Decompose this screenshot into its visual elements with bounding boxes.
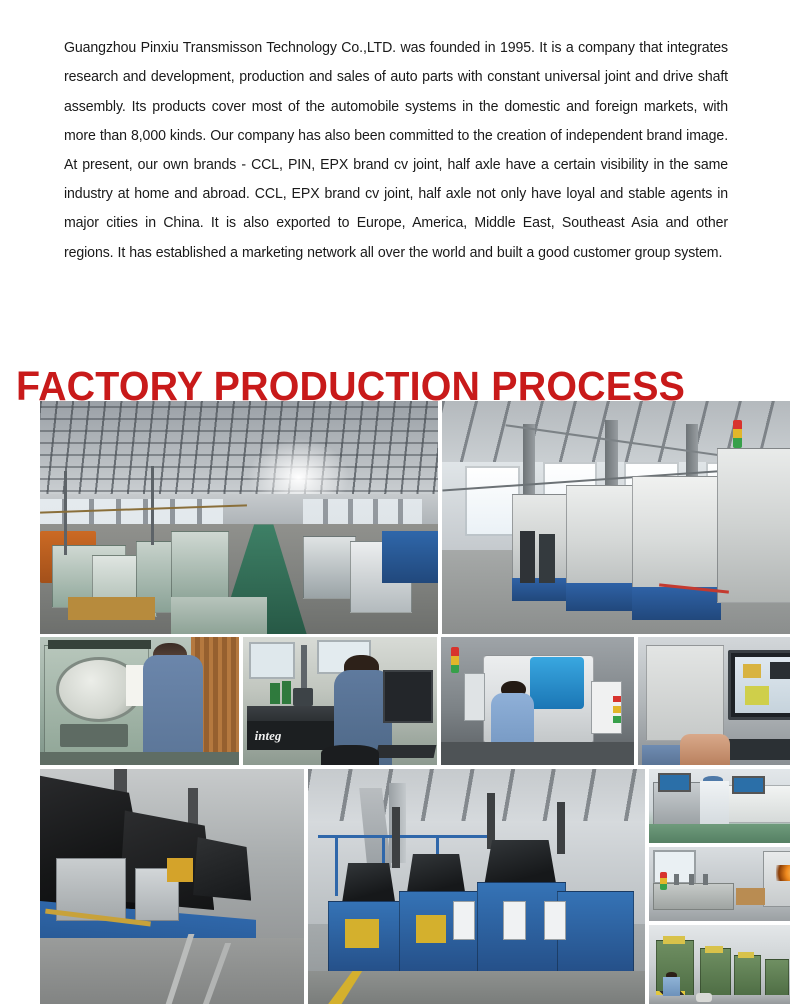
photo-induction-hardening-unit <box>649 847 790 921</box>
wall-box-1 <box>453 901 475 941</box>
machine-top-label <box>48 640 151 649</box>
fixture-2 <box>689 874 694 886</box>
measurement-monitor <box>728 650 790 720</box>
probe-head <box>293 688 312 706</box>
induction-spark-glow <box>776 865 790 881</box>
screen-part-image-3 <box>745 686 769 705</box>
column-1 <box>64 471 67 555</box>
exhaust-stack-3 <box>557 802 565 854</box>
blue-pipe-rack-v1 <box>335 835 338 896</box>
monitor-right <box>732 776 765 793</box>
factory-photo-gallery: integ <box>0 385 790 988</box>
photo-cleanroom-inspection <box>649 769 790 843</box>
machine-right-blue <box>382 531 438 582</box>
fixture-3 <box>703 874 708 886</box>
press-cylinder-2 <box>705 946 723 953</box>
yellow-door-frame-2 <box>416 915 446 943</box>
test-machine-scene <box>40 637 239 765</box>
window-row-right <box>303 499 422 525</box>
screen-part-image-2 <box>770 662 790 679</box>
photo-cnc-lathe-operator <box>441 637 634 765</box>
machine-opening <box>60 724 128 747</box>
monitor-screen <box>735 657 790 713</box>
floor <box>40 752 239 765</box>
yellow-marker <box>167 858 193 882</box>
column-2 <box>151 466 154 545</box>
cnc-machine-line-scene <box>442 401 790 634</box>
cnc-machine-2 <box>566 485 642 590</box>
screen-part-image-1 <box>743 664 761 679</box>
floor <box>441 742 634 765</box>
press-4 <box>765 959 789 996</box>
foreground-machine <box>171 597 267 634</box>
specimen-2 <box>282 681 292 704</box>
worker-body <box>663 977 679 996</box>
company-intro-section: Guangzhou Pinxiu Transmisson Technology … <box>64 18 728 282</box>
worker-body <box>143 655 203 765</box>
cleanroom-scene <box>649 769 790 843</box>
machine-right-1 <box>303 536 357 599</box>
cnc-lathe-scene <box>441 637 634 765</box>
extraction-hood-1 <box>342 863 396 905</box>
cnc-machine-3 <box>632 476 723 595</box>
panel-button-yellow <box>613 706 621 712</box>
green-floor <box>649 824 790 843</box>
photo-optical-measuring-monitor <box>638 637 790 765</box>
press-cylinder-3 <box>738 952 754 958</box>
worker-silhouette-1 <box>520 531 536 582</box>
control-box <box>464 673 485 721</box>
lathe-blue-cover <box>530 657 584 708</box>
machine-shop-hall-scene <box>40 401 438 634</box>
company-intro-paragraph: Guangzhou Pinxiu Transmisson Technology … <box>64 33 728 267</box>
machine-left-4 <box>171 531 229 598</box>
photo-heat-treatment-line-wide <box>308 769 645 1004</box>
specimen-1 <box>270 683 280 703</box>
parts-bucket <box>696 993 712 1002</box>
office-chair <box>321 745 379 765</box>
machine-brand-label: integ <box>255 728 333 743</box>
press-cylinder-1 <box>663 936 685 944</box>
press-3 <box>734 955 761 997</box>
wall-box-3 <box>544 901 566 941</box>
cmm-station-scene: integ <box>243 637 437 765</box>
heat-treatment-wide-scene <box>308 769 645 1004</box>
optical-measuring-scene <box>638 637 790 765</box>
wall-window-left <box>249 642 296 679</box>
press-2 <box>700 948 731 996</box>
keyboard <box>376 745 437 758</box>
signal-tower-lamp <box>660 872 667 890</box>
photo-cmm-measuring-station: integ <box>243 637 437 765</box>
exhaust-stack-1 <box>392 807 400 868</box>
monitor-left <box>658 773 691 792</box>
photo-heat-treatment-line-left <box>40 769 304 1004</box>
cardboard-box <box>736 888 765 904</box>
wall-box-2 <box>503 901 525 941</box>
optical-projector-body <box>646 645 725 742</box>
photo-machine-shop-hall <box>40 401 438 634</box>
forging-press-scene <box>649 925 790 1004</box>
photo-operator-at-test-machine <box>40 637 239 765</box>
roof-truss-grid <box>40 401 438 504</box>
photo-forging-press-shop <box>649 925 790 1004</box>
operator-hand <box>680 734 730 765</box>
heat-treatment-left-scene <box>40 769 304 1004</box>
cnc-base-3 <box>632 587 721 620</box>
blue-pipe-rack-h <box>318 835 493 838</box>
yellow-door-frame-1 <box>345 919 379 947</box>
panel-button-red <box>613 696 621 702</box>
signal-tower-lamp <box>733 420 742 448</box>
pallet-left <box>68 597 156 620</box>
photo-cnc-machine-line <box>442 401 790 634</box>
cnc-base-2 <box>566 583 640 611</box>
panel-button-green <box>613 716 621 722</box>
computer-monitor <box>383 670 434 723</box>
fixture-1 <box>674 874 679 886</box>
worker-silhouette-2 <box>539 534 555 583</box>
cnc-machine-4 <box>717 448 790 604</box>
signal-tower-lamp <box>451 647 459 673</box>
induction-hardening-scene <box>649 847 790 921</box>
furnace-unit-4 <box>557 891 633 973</box>
